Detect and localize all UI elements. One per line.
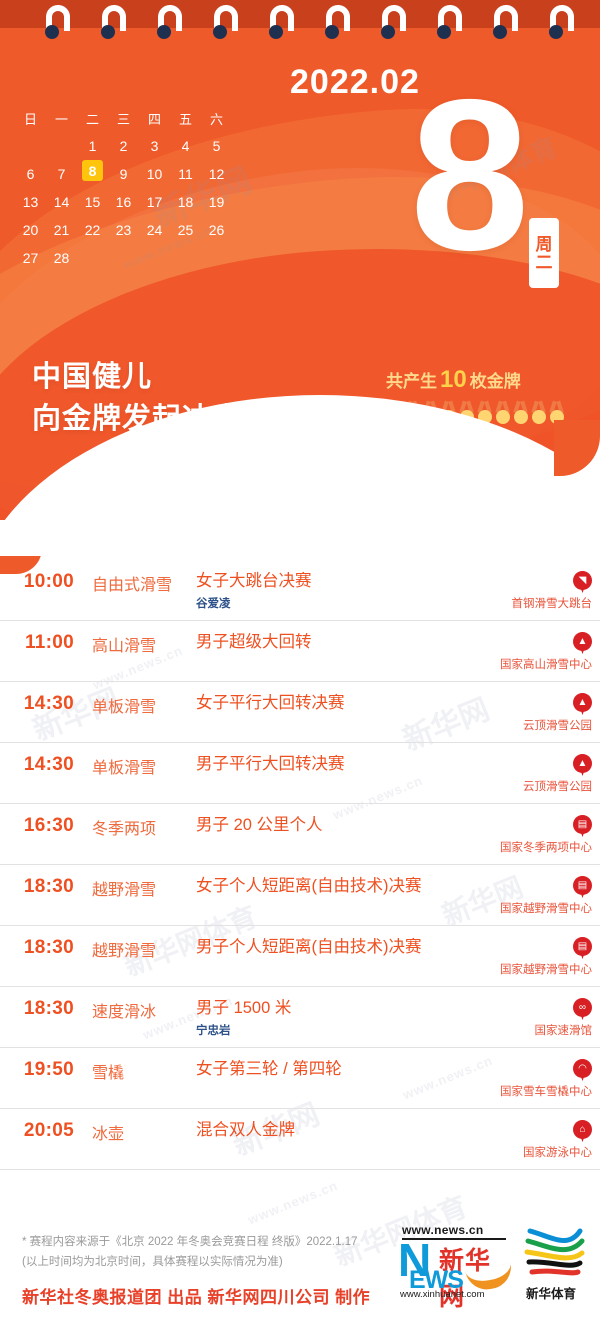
event-name: 混合双人金牌 xyxy=(196,1120,482,1141)
event-sport: 冰壶 xyxy=(86,1120,190,1144)
event-name: 女子第三轮 / 第四轮 xyxy=(196,1059,482,1080)
spiral-ring xyxy=(438,5,462,45)
calendar-empty-cell: · xyxy=(140,244,169,272)
calendar-day[interactable]: 23 xyxy=(109,216,138,244)
event-venue[interactable]: ▲国家高山滑雪中心 xyxy=(488,632,600,672)
schedule-row[interactable]: 18:30越野滑雪女子个人短距离(自由技术)决赛▤国家越野滑雪中心 xyxy=(0,865,600,926)
mini-calendar[interactable]: 日一二三四五六··1234567891011121314151617181920… xyxy=(16,104,233,272)
calendar-empty-cell: · xyxy=(202,244,231,272)
event-time: 18:30 xyxy=(0,876,86,898)
headline-line-1: 中国健儿 xyxy=(32,356,242,398)
calendar-day[interactable]: 5 xyxy=(202,132,231,160)
calendar-week-row: ··12345 xyxy=(16,132,233,160)
biathlon-pin-icon: ▤ xyxy=(573,815,592,838)
schedule-row[interactable]: 16:30冬季两项男子 20 公里个人▤国家冬季两项中心 xyxy=(0,804,600,865)
event-details: 女子平行大回转决赛 xyxy=(190,693,488,714)
event-athlete: 宁忠岩 xyxy=(196,1022,482,1038)
panel-corner-shape xyxy=(554,420,600,520)
medal-prefix: 共产生 xyxy=(386,372,437,391)
event-venue[interactable]: ◥首钢滑雪大跳台 xyxy=(488,571,600,611)
calendar-poster: 新华网www.news.cn新华网体育新华网www.news.cn新华网体育新华… xyxy=(0,0,600,1319)
calendar-day[interactable]: 15 xyxy=(78,188,107,216)
event-details: 男子超级大回转 xyxy=(190,632,488,653)
venue-name: 国家越野滑雪中心 xyxy=(500,900,592,916)
venue-name: 云顶滑雪公园 xyxy=(523,717,592,733)
event-sport: 自由式滑雪 xyxy=(86,571,190,595)
event-sport: 雪橇 xyxy=(86,1059,190,1083)
event-time: 20:05 xyxy=(0,1120,86,1142)
schedule-row[interactable]: 19:50雪橇女子第三轮 / 第四轮◠国家雪车雪橇中心 xyxy=(0,1048,600,1109)
calendar-day[interactable]: 25 xyxy=(171,216,200,244)
event-venue[interactable]: ▲云顶滑雪公园 xyxy=(488,693,600,733)
weekday-char-2: 二 xyxy=(536,254,553,272)
schedule-row[interactable]: 14:30单板滑雪男子平行大回转决赛▲云顶滑雪公园 xyxy=(0,743,600,804)
calendar-weekday-header: 六 xyxy=(202,104,231,132)
footer: * 赛程内容来源于《北京 2022 年冬奥会竞赛日程 终版》2022.1.17 … xyxy=(0,1215,600,1319)
calendar-day[interactable]: 1 xyxy=(78,132,107,160)
event-sport: 单板滑雪 xyxy=(86,693,190,717)
venue-name: 首钢滑雪大跳台 xyxy=(512,595,593,611)
event-name: 男子 20 公里个人 xyxy=(196,815,482,836)
sports-logo-label: 新华体育 xyxy=(526,1283,576,1302)
venue-name: 云顶滑雪公园 xyxy=(523,778,592,794)
venue-name: 国家速滑馆 xyxy=(535,1022,593,1038)
gold-medal-icon xyxy=(512,401,530,425)
event-sport: 速度滑冰 xyxy=(86,998,190,1022)
footer-note-line-1: * 赛程内容来源于《北京 2022 年冬奥会竞赛日程 终版》2022.1.17 xyxy=(22,1232,358,1252)
year-month-label: 2022.02 xyxy=(290,63,420,102)
event-venue[interactable]: ∞国家速滑馆 xyxy=(488,998,600,1038)
weekday-char-1: 周 xyxy=(536,236,553,254)
calendar-week-row: 6789101112 xyxy=(16,160,233,188)
calendar-day[interactable]: 2 xyxy=(109,132,138,160)
schedule-row[interactable]: 11:00高山滑雪男子超级大回转▲国家高山滑雪中心 xyxy=(0,621,600,682)
event-name: 女子大跳台决赛 xyxy=(196,571,482,592)
curling-pin-icon: ⌂ xyxy=(573,1120,592,1143)
footer-note-line-2: (以上时间均为北京时间，具体赛程以实际情况为准) xyxy=(22,1252,358,1272)
schedule-row[interactable]: 14:30单板滑雪女子平行大回转决赛▲云顶滑雪公园 xyxy=(0,682,600,743)
calendar-weekday-header: 四 xyxy=(140,104,169,132)
spiral-ring xyxy=(382,5,406,45)
calendar-weekday-header: 三 xyxy=(109,104,138,132)
event-name: 男子平行大回转决赛 xyxy=(196,754,482,775)
spiral-ring xyxy=(550,5,574,45)
schedule-row[interactable]: 20:05冰壶混合双人金牌⌂国家游泳中心 xyxy=(0,1109,600,1170)
calendar-day[interactable]: 26 xyxy=(202,216,231,244)
calendar-weekday-header: 日 xyxy=(16,104,45,132)
event-name: 男子 1500 米 xyxy=(196,998,482,1019)
event-time: 19:50 xyxy=(0,1059,86,1081)
day-number: 8 xyxy=(410,72,524,277)
spiral-ring xyxy=(158,5,182,45)
event-venue[interactable]: ▲云顶滑雪公园 xyxy=(488,754,600,794)
gold-medal-icon xyxy=(494,401,512,425)
calendar-day[interactable]: 9 xyxy=(109,160,138,188)
event-time: 18:30 xyxy=(0,998,86,1020)
calendar-empty-cell: · xyxy=(78,244,107,272)
calendar-day[interactable]: 20 xyxy=(16,216,45,244)
olympic-rings-swoosh-icon xyxy=(522,1225,588,1283)
event-name: 女子平行大回转决赛 xyxy=(196,693,482,714)
snow-park-pin-icon: ▲ xyxy=(573,693,592,716)
event-athlete: 谷爱凌 xyxy=(196,595,482,611)
event-time: 14:30 xyxy=(0,754,86,776)
event-details: 女子第三轮 / 第四轮 xyxy=(190,1059,488,1080)
cross-country-pin-icon: ▤ xyxy=(573,937,592,960)
calendar-day[interactable]: 22 xyxy=(78,216,107,244)
event-time: 14:30 xyxy=(0,693,86,715)
alpine-mountain-pin-icon: ▲ xyxy=(573,632,592,655)
calendar-weekday-header: 二 xyxy=(78,104,107,132)
medal-count: 10 xyxy=(440,366,467,393)
calendar-day[interactable]: 14 xyxy=(47,188,76,216)
event-details: 女子大跳台决赛谷爱凌 xyxy=(190,571,488,611)
venue-name: 国家越野滑雪中心 xyxy=(500,961,592,977)
xinhua-sports-logo[interactable]: 新华体育 xyxy=(522,1225,588,1299)
spiral-ring xyxy=(46,5,70,45)
medal-summary-text: 共产生10枚金牌 xyxy=(386,366,566,394)
event-time: 18:30 xyxy=(0,937,86,959)
calendar-week-row: 2728····· xyxy=(16,244,233,272)
calendar-week-row: 20212223242526 xyxy=(16,216,233,244)
venue-name: 国家冬季两项中心 xyxy=(500,839,592,855)
speed-skating-pin-icon: ∞ xyxy=(573,998,592,1021)
event-venue[interactable]: ⌂国家游泳中心 xyxy=(488,1120,600,1160)
venue-name: 国家雪车雪橇中心 xyxy=(500,1083,592,1099)
calendar-weekday-header: 五 xyxy=(171,104,200,132)
calendar-day[interactable]: 28 xyxy=(47,244,76,272)
gold-medal-icon xyxy=(530,401,548,425)
event-venue[interactable]: ▤国家越野滑雪中心 xyxy=(488,937,600,977)
event-sport: 越野滑雪 xyxy=(86,876,190,900)
event-name: 男子超级大回转 xyxy=(196,632,482,653)
weekday-badge: 周 二 xyxy=(529,218,559,288)
calendar-day[interactable]: 24 xyxy=(140,216,169,244)
calendar-empty-cell: · xyxy=(109,244,138,272)
event-details: 混合双人金牌 xyxy=(190,1120,488,1141)
calendar-day[interactable]: 10 xyxy=(140,160,169,188)
event-details: 女子个人短距离(自由技术)决赛 xyxy=(190,876,488,897)
calendar-day[interactable]: 7 xyxy=(47,160,76,188)
calendar-day[interactable]: 17 xyxy=(140,188,169,216)
calendar-day-today[interactable]: 8 xyxy=(82,160,103,181)
event-venue[interactable]: ▤国家冬季两项中心 xyxy=(488,815,600,855)
event-sport: 越野滑雪 xyxy=(86,937,190,961)
calendar-day[interactable]: 18 xyxy=(171,188,200,216)
spiral-ring xyxy=(214,5,238,45)
event-sport: 单板滑雪 xyxy=(86,754,190,778)
venue-name: 国家高山滑雪中心 xyxy=(500,656,592,672)
spiral-ring xyxy=(494,5,518,45)
logo-url-bottom: www.xinhuanet.com xyxy=(400,1289,484,1300)
event-sport: 冬季两项 xyxy=(86,815,190,839)
spiral-ring xyxy=(326,5,350,45)
event-details: 男子 20 公里个人 xyxy=(190,815,488,836)
event-details: 男子个人短距离(自由技术)决赛 xyxy=(190,937,488,958)
calendar-day[interactable]: 12 xyxy=(202,160,231,188)
ski-jump-pin-icon: ◥ xyxy=(573,571,592,594)
event-venue[interactable]: ◠国家雪车雪橇中心 xyxy=(488,1059,600,1099)
calendar-day[interactable]: 21 xyxy=(47,216,76,244)
calendar-day[interactable]: 6 xyxy=(16,160,45,188)
snow-park-pin-icon: ▲ xyxy=(573,754,592,777)
schedule-row[interactable]: 18:30越野滑雪男子个人短距离(自由技术)决赛▤国家越野滑雪中心 xyxy=(0,926,600,987)
calendar-day[interactable]: 13 xyxy=(16,188,45,216)
calendar-day[interactable]: 19 xyxy=(202,188,231,216)
footer-note: * 赛程内容来源于《北京 2022 年冬奥会竞赛日程 终版》2022.1.17 … xyxy=(22,1232,358,1272)
event-details: 男子平行大回转决赛 xyxy=(190,754,488,775)
event-details: 男子 1500 米宁忠岩 xyxy=(190,998,488,1038)
footer-credit: 新华社冬奥报道团 出品 新华网四川公司 制作 xyxy=(22,1283,370,1308)
event-venue[interactable]: ▤国家越野滑雪中心 xyxy=(488,876,600,916)
spiral-binding xyxy=(0,0,600,58)
calendar-day[interactable]: 27 xyxy=(16,244,45,272)
event-name: 女子个人短距离(自由技术)决赛 xyxy=(196,876,482,897)
event-time: 10:00 xyxy=(0,571,86,593)
calendar-day[interactable]: 11 xyxy=(171,160,200,188)
event-sport: 高山滑雪 xyxy=(86,632,190,656)
xinhuanet-logo[interactable]: www.news.cn N 新华网 EWS www.xinhuanet.com xyxy=(395,1223,515,1299)
cross-country-pin-icon: ▤ xyxy=(573,876,592,899)
schedule-list: 10:00自由式滑雪女子大跳台决赛谷爱凌◥首钢滑雪大跳台11:00高山滑雪男子超… xyxy=(0,560,600,1170)
calendar-empty-cell: · xyxy=(47,132,76,160)
calendar-day[interactable]: 3 xyxy=(140,132,169,160)
calendar-day[interactable]: 4 xyxy=(171,132,200,160)
event-time: 11:00 xyxy=(0,632,86,654)
schedule-row[interactable]: 10:00自由式滑雪女子大跳台决赛谷爱凌◥首钢滑雪大跳台 xyxy=(0,560,600,621)
event-time: 16:30 xyxy=(0,815,86,837)
schedule-row[interactable]: 18:30速度滑冰男子 1500 米宁忠岩∞国家速滑馆 xyxy=(0,987,600,1048)
calendar-day[interactable]: 16 xyxy=(109,188,138,216)
calendar-empty-cell: · xyxy=(16,132,45,160)
calendar-week-row: 13141516171819 xyxy=(16,188,233,216)
medal-suffix: 枚金牌 xyxy=(470,372,521,391)
calendar-weekday-header-row: 日一二三四五六 xyxy=(16,104,233,132)
venue-name: 国家游泳中心 xyxy=(523,1144,592,1160)
spiral-ring xyxy=(102,5,126,45)
event-name: 男子个人短距离(自由技术)决赛 xyxy=(196,937,482,958)
spiral-ring xyxy=(270,5,294,45)
calendar-empty-cell: · xyxy=(171,244,200,272)
calendar-weekday-header: 一 xyxy=(47,104,76,132)
luge-pin-icon: ◠ xyxy=(573,1059,592,1082)
